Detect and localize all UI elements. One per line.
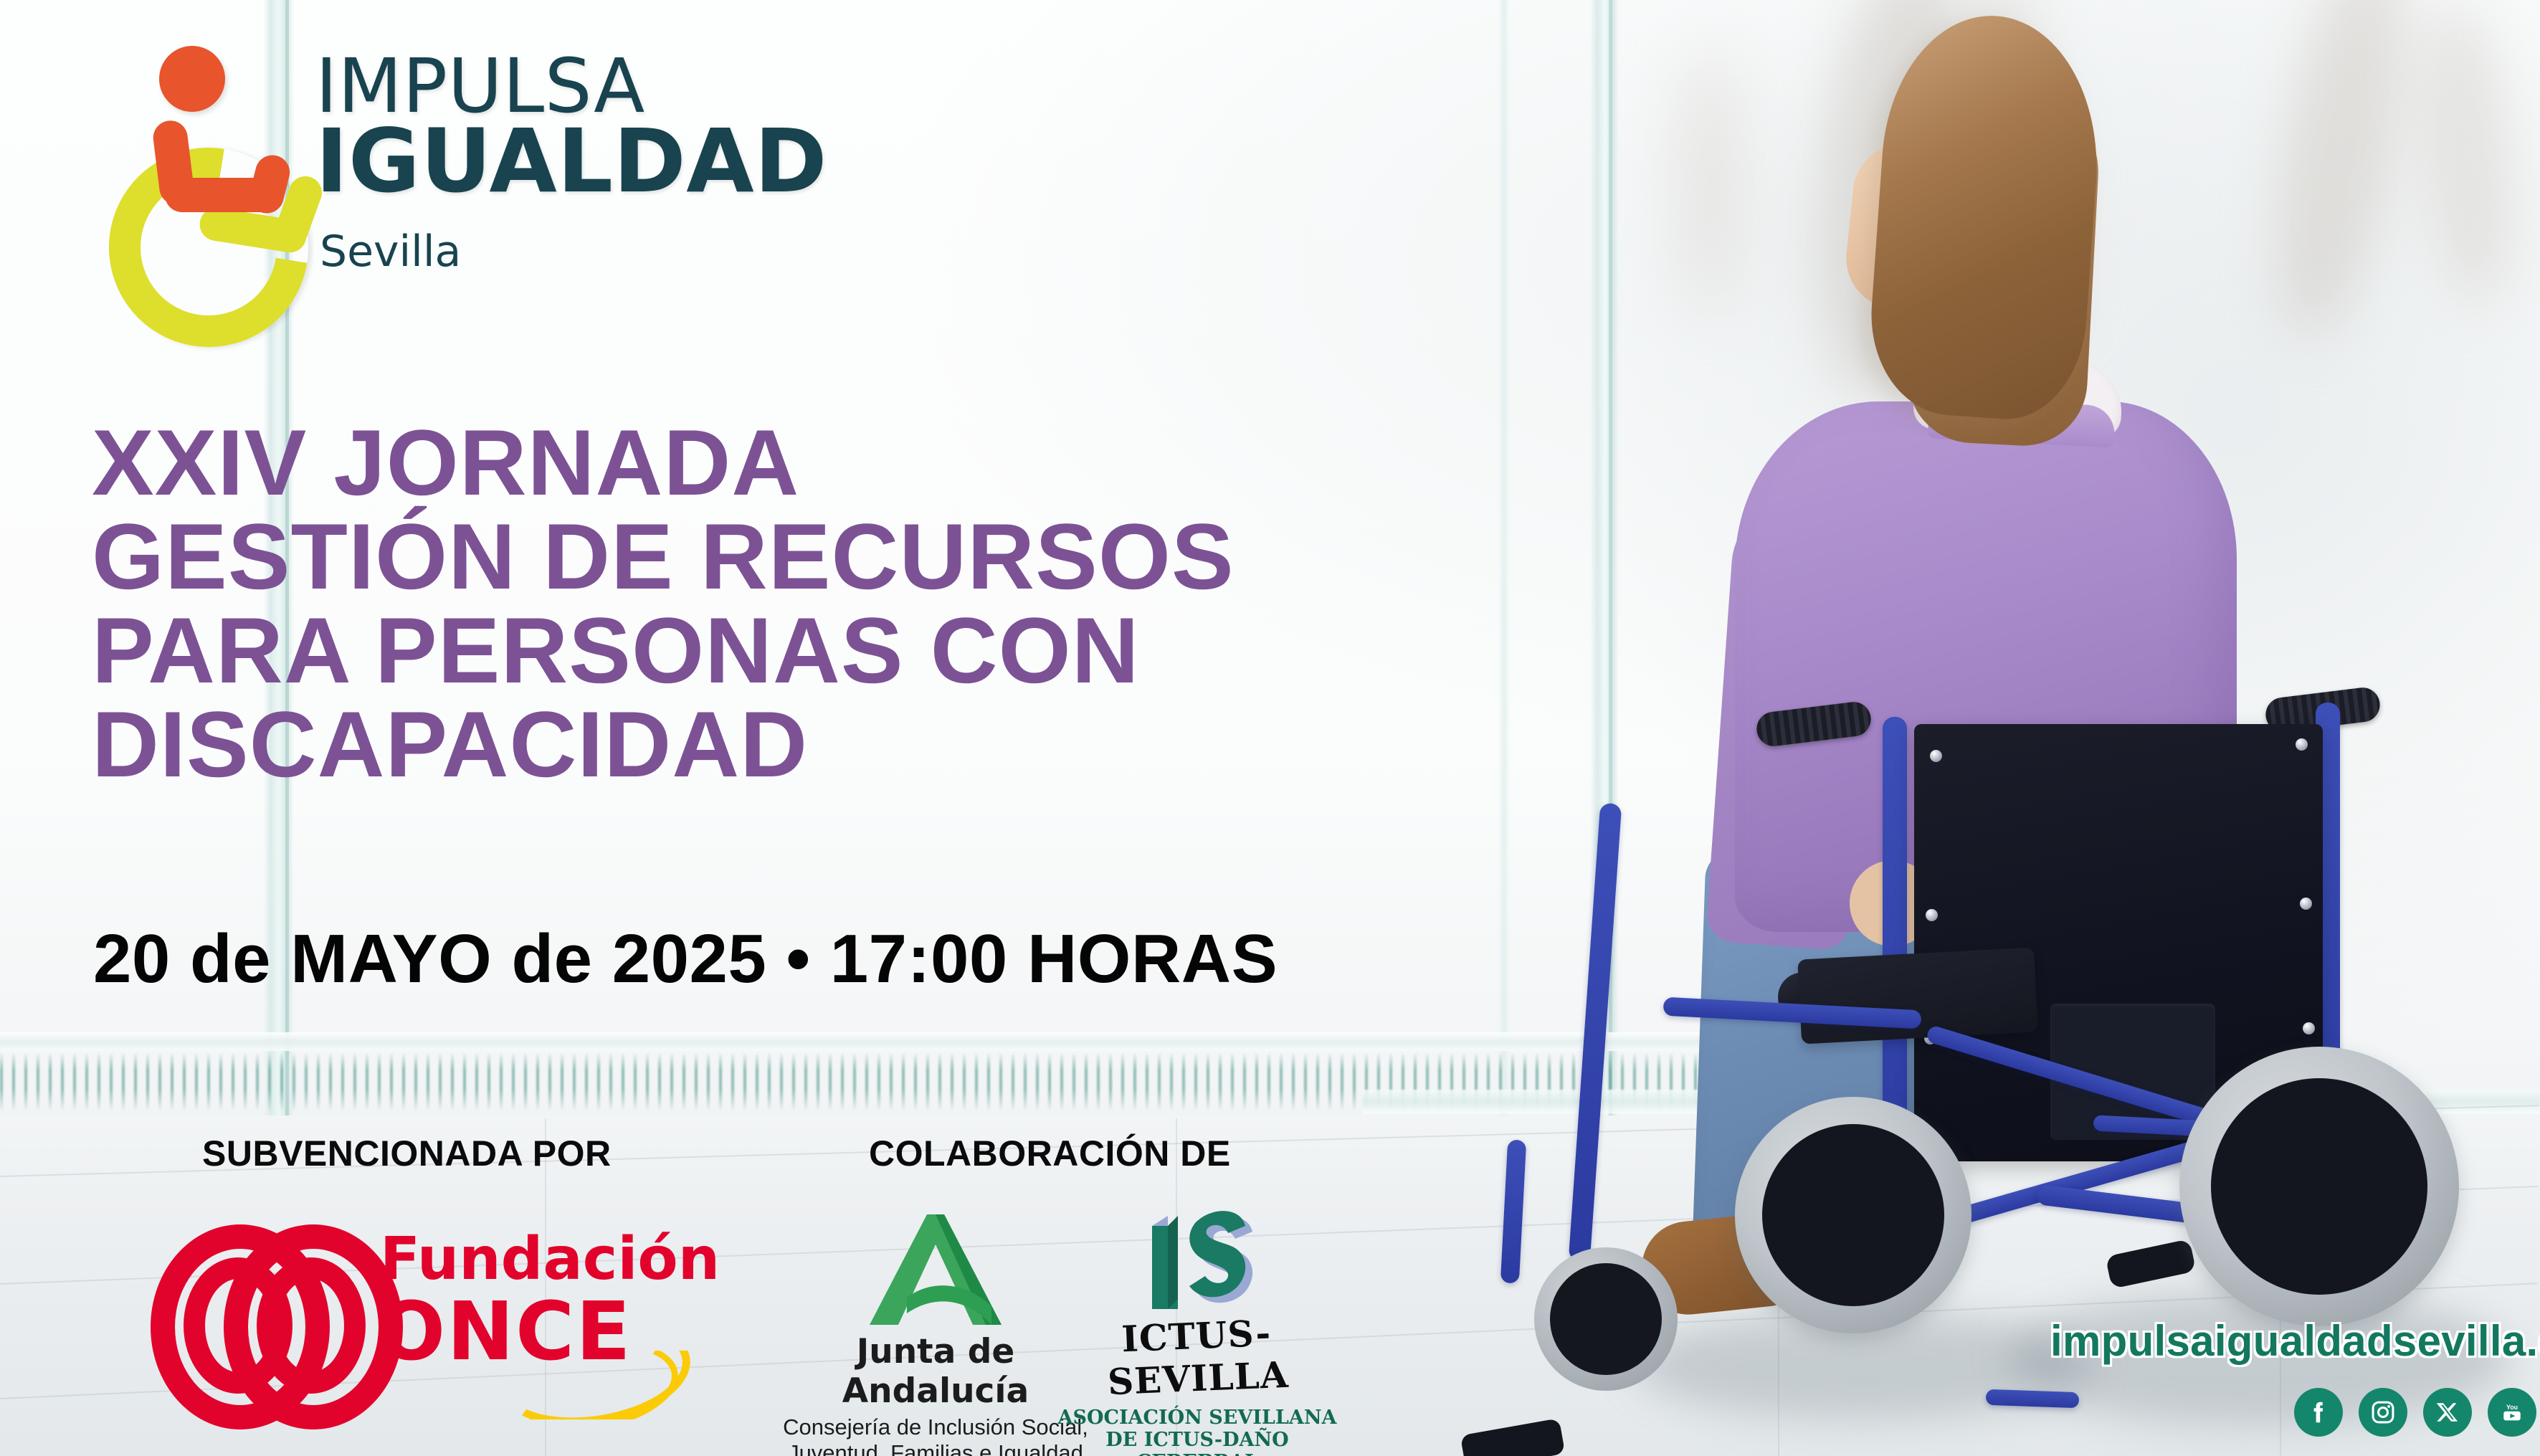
headline-line-1: XXIV JORNADA xyxy=(92,416,1561,510)
fundacion-once-logo: Fundación ONCE xyxy=(143,1217,645,1396)
headline-line-3: PARA PERSONAS CON xyxy=(92,604,1561,698)
headline-line-4: DISCAPACIDAD xyxy=(92,698,1561,791)
poster: IMPULSA IGUALDAD Sevilla XXIV JORNADA GE… xyxy=(0,0,2540,1456)
once-swoosh-icon xyxy=(510,1351,697,1419)
ictus-subtitle-line-2: DE ICTUS-DAÑO CEREBRAL xyxy=(1054,1429,1341,1456)
facebook-icon[interactable] xyxy=(2294,1388,2343,1437)
funded-by-label: SUBVENCIONADA POR xyxy=(202,1133,612,1174)
svg-text:You: You xyxy=(2506,1404,2518,1411)
wheelchair-wheel-right xyxy=(2179,1047,2459,1326)
wheelchair-wheel-left xyxy=(1735,1097,1971,1333)
once-name-line-1: Fundación xyxy=(380,1230,720,1289)
instagram-icon[interactable] xyxy=(2359,1388,2407,1437)
social-links: You xyxy=(2294,1388,2536,1437)
headline-line-2: GESTIÓN DE RECURSOS xyxy=(92,510,1561,604)
wheelchair-caster-wheel xyxy=(1534,1247,1678,1391)
junta-department-line-2: Juventud, Familias e Igualdad xyxy=(778,1440,1093,1456)
sponsors-strip: SUBVENCIONADA POR COLABORACIÓN DE Fundac… xyxy=(0,1133,1362,1448)
hair xyxy=(1865,9,2107,424)
junta-title: Junta de Andalucía xyxy=(778,1332,1093,1411)
junta-department-line-1: Consejería de Inclusión Social, xyxy=(778,1414,1093,1440)
woman-in-wheelchair-photo xyxy=(1419,0,2540,1456)
is-monogram-icon xyxy=(1136,1204,1258,1312)
brand-city: Sevilla xyxy=(320,227,461,277)
impulsa-igualdad-logo: IMPULSA IGUALDAD Sevilla xyxy=(122,34,982,336)
junta-andalucia-a-icon xyxy=(865,1213,1006,1326)
brand-line-2: IGUALDAD xyxy=(315,118,827,205)
event-headline: XXIV JORNADA GESTIÓN DE RECURSOS PARA PE… xyxy=(92,416,1561,791)
event-date-time: 20 de MAYO de 2025 • 17:00 HORAS xyxy=(93,923,1278,995)
wheelchair-seat xyxy=(1797,947,2038,1044)
ictus-sevilla-logo: ICTUS-SEVILLA ASOCIACIÓN SEVILLANA DE IC… xyxy=(1054,1204,1341,1441)
website-url[interactable]: impulsaigualdadsevilla.org xyxy=(2050,1316,2540,1366)
x-twitter-icon[interactable] xyxy=(2423,1388,2472,1437)
youtube-icon[interactable]: You xyxy=(2488,1388,2536,1437)
junta-andalucia-logo: Junta de Andalucía Consejería de Inclusi… xyxy=(778,1213,1093,1442)
ictus-subtitle-line-1: ASOCIACIÓN SEVILLANA xyxy=(1054,1407,1341,1429)
collaboration-label: COLABORACIÓN DE xyxy=(869,1133,1231,1174)
ictus-title: ICTUS-SEVILLA xyxy=(1052,1309,1343,1406)
